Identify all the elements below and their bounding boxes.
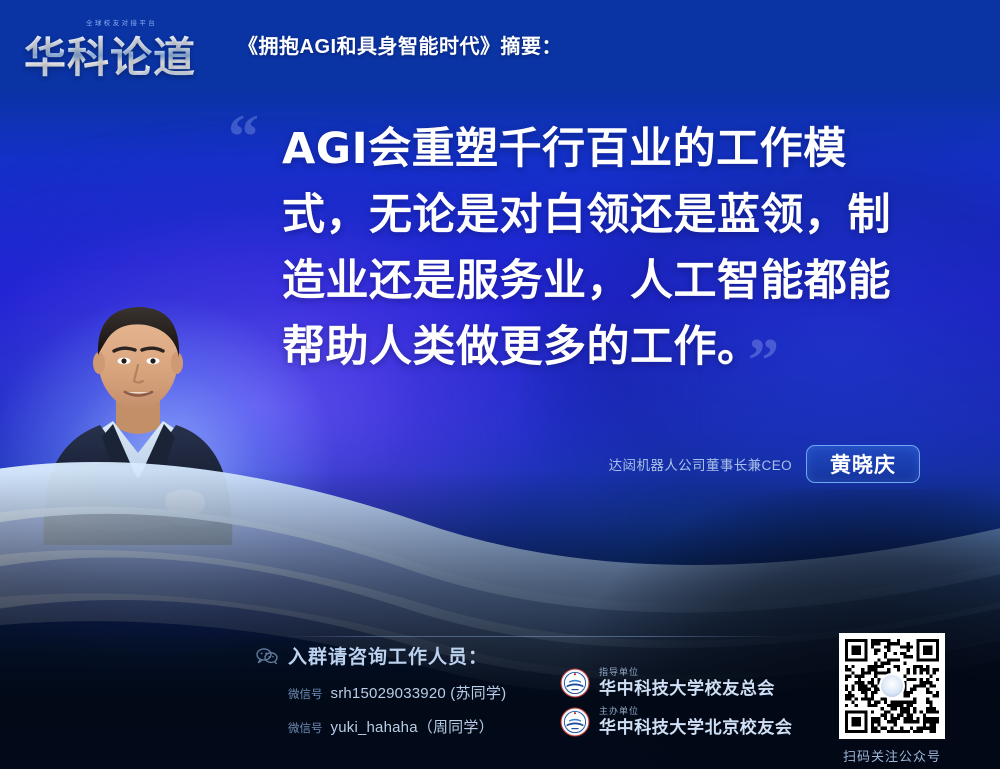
organizations: 指导单位 华中科技大学校友总会 主办单位 华中科技大学北京校友会 [560,668,793,746]
speaker-role: 达闼机器人公司董事长兼CEO [609,454,792,474]
qr-caption: 扫码关注公众号 [833,746,951,765]
quote-line: 造业还是服务业，人工智能都能 [282,248,942,314]
header-bar: 全球校友对接平台 华科论道 《拥抱AGI和具身智能时代》摘要： [0,0,1000,88]
contact-row[interactable]: 微信号 srh15029033920 (苏同学) [256,682,586,703]
organization-text: 指导单位 华中科技大学校友总会 [599,668,775,697]
footer-divider [285,636,785,637]
contact-title: 入群请咨询工作人员： [288,642,488,669]
attribution: 达闼机器人公司董事长兼CEO 黄晓庆 [560,444,920,484]
hust-emblem-icon [560,707,590,737]
organization-kicker: 指导单位 [599,668,775,677]
organization-row: 主办单位 华中科技大学北京校友会 [560,707,793,737]
qr-code-icon[interactable] [839,633,945,739]
organization-kicker: 主办单位 [599,707,793,716]
qr-center-logo-icon [879,673,905,699]
brand-name: 华科论道 [24,24,196,85]
hust-emblem-icon [560,668,590,698]
organization-name: 华中科技大学校友总会 [599,680,775,698]
quote-text: AGI会重塑千行百业的工作模 式，无论是对白领还是蓝领，制 造业还是服务业，人工… [282,116,942,380]
page-title: 《拥抱AGI和具身智能时代》摘要： [238,30,562,59]
contact-label: 微信号 [288,720,323,736]
speaker-name-badge: 黄晓庆 [806,445,920,483]
contact-header: 入群请咨询工作人员： [256,642,586,669]
qr-section: 扫码关注公众号 [833,633,951,765]
contact-row[interactable]: 微信号 yuki_hahaha（周同学） [256,716,586,737]
organization-row: 指导单位 华中科技大学校友总会 [560,668,793,698]
contact-section: 入群请咨询工作人员： 微信号 srh15029033920 (苏同学) 微信号 … [256,642,586,737]
quote-close-mark: ” [748,330,779,392]
quote-line: AGI会重塑千行百业的工作模 [282,116,942,182]
contact-value: srh15029033920 (苏同学) [331,682,507,703]
quote-line: 帮助人类做更多的工作。 [282,314,942,380]
quote-line: 式，无论是对白领还是蓝领，制 [282,182,942,248]
poster-canvas: 全球校友对接平台 华科论道 《拥抱AGI和具身智能时代》摘要： “ AGI会重塑… [0,0,1000,769]
organization-name: 华中科技大学北京校友会 [599,719,793,737]
contact-value: yuki_hahaha（周同学） [331,716,494,737]
brand-logo[interactable]: 全球校友对接平台 华科论道 [24,15,214,73]
contact-label: 微信号 [288,686,323,702]
wechat-icon [256,648,278,664]
quote-open-mark: “ [228,106,259,168]
organization-text: 主办单位 华中科技大学北京校友会 [599,707,793,736]
